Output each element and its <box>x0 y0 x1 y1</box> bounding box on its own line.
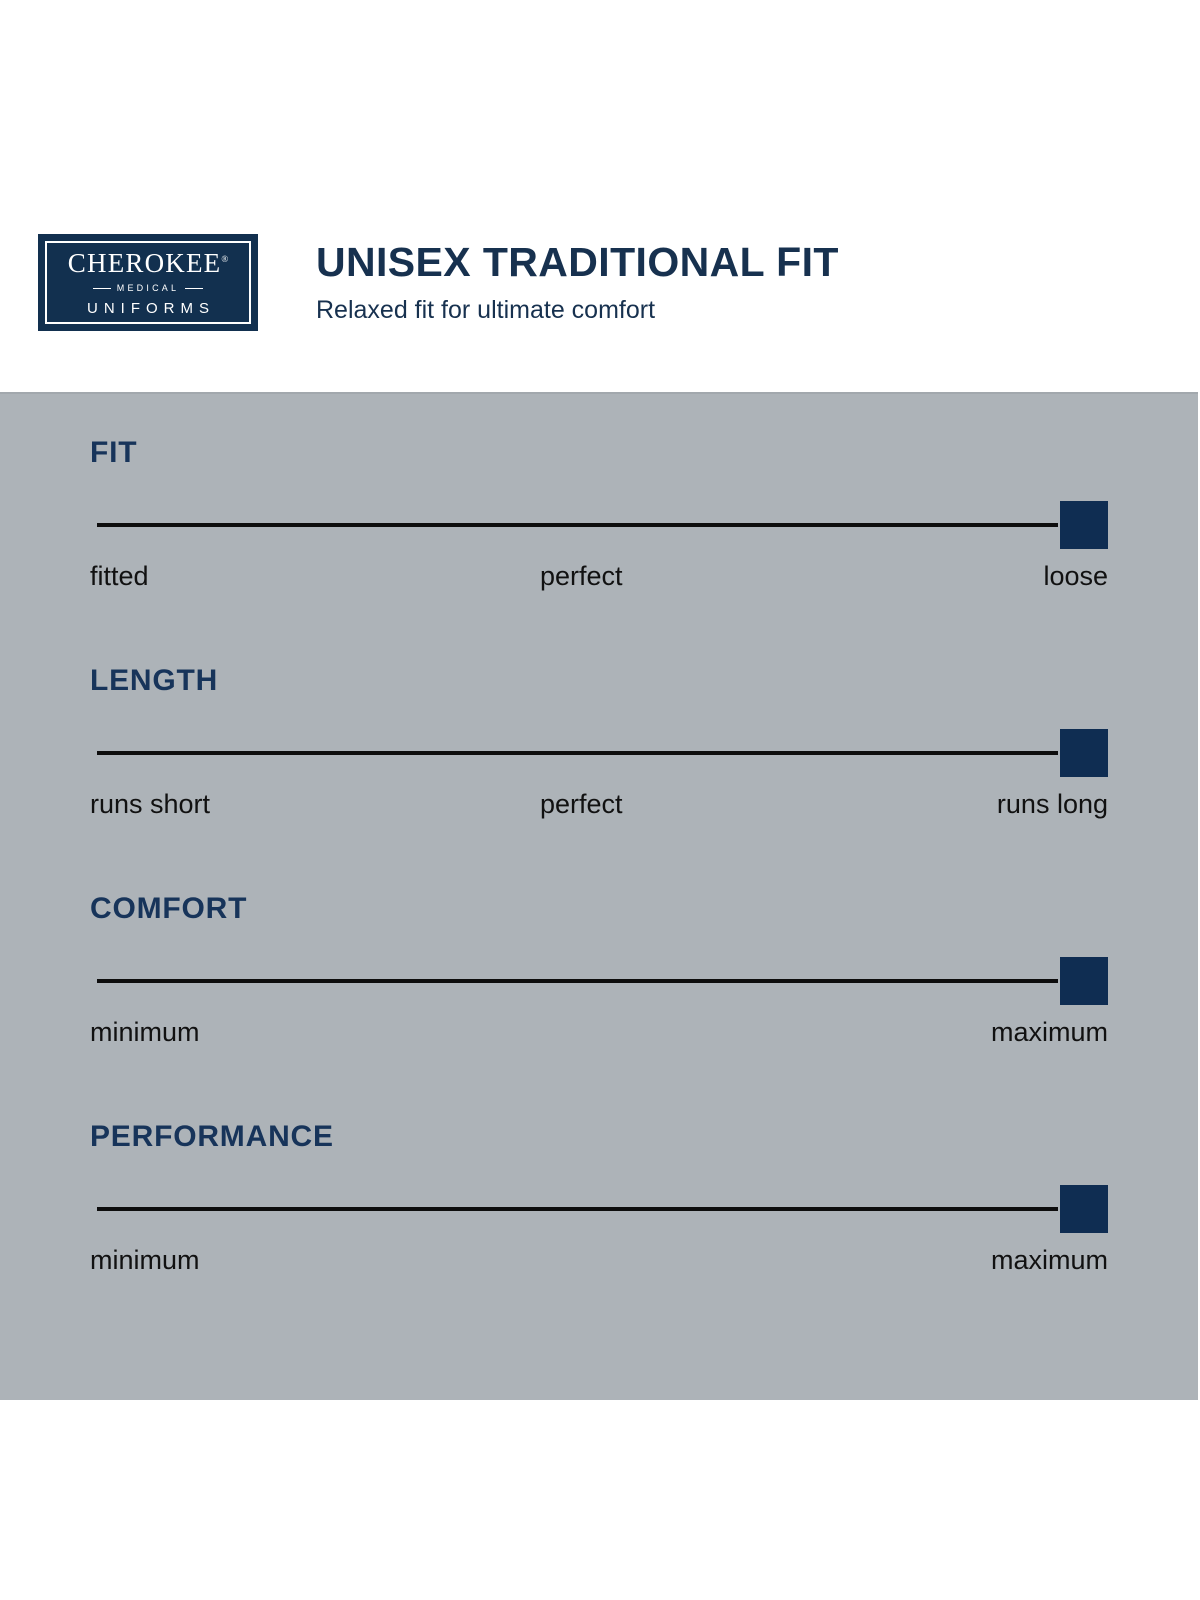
slider-labels-comfort: minimum maximum <box>90 1015 1108 1051</box>
scale-label-center-fit: perfect <box>540 559 623 594</box>
slider-labels-performance: minimum maximum <box>90 1243 1108 1279</box>
logo-medical-label: MEDICAL <box>117 284 179 293</box>
slider-labels-fit: fitted perfect loose <box>90 559 1108 595</box>
scale-label-left-length: runs short <box>90 787 210 822</box>
slider-comfort[interactable] <box>90 957 1108 1005</box>
cherokee-logo: CHEROKEE® MEDICAL UNIFORMS <box>38 234 258 331</box>
logo-medical-row: MEDICAL <box>93 284 203 293</box>
scale-title-length: LENGTH <box>90 662 1108 696</box>
scale-title-fit: FIT <box>90 434 1108 468</box>
logo-uniforms-label: UNIFORMS <box>81 301 215 316</box>
fit-scales-panel: FIT fitted perfect loose LENGTH runs sho… <box>0 392 1198 1400</box>
header-text-block: UNISEX TRADITIONAL FIT Relaxed fit for u… <box>316 240 1116 325</box>
page-title: UNISEX TRADITIONAL FIT <box>316 240 1116 285</box>
slider-track-performance[interactable] <box>97 1207 1058 1211</box>
scale-label-right-comfort: maximum <box>991 1015 1108 1050</box>
slider-marker-fit[interactable] <box>1060 501 1108 549</box>
scale-title-comfort: COMFORT <box>90 890 1108 924</box>
slider-marker-performance[interactable] <box>1060 1185 1108 1233</box>
slider-length[interactable] <box>90 729 1108 777</box>
scale-label-right-length: runs long <box>997 787 1108 822</box>
scale-label-center-length: perfect <box>540 787 623 822</box>
slider-marker-length[interactable] <box>1060 729 1108 777</box>
slider-track-fit[interactable] <box>97 523 1058 527</box>
page-header: CHEROKEE® MEDICAL UNIFORMS UNISEX TRADIT… <box>0 0 1200 392</box>
scale-label-left-fit: fitted <box>90 559 149 594</box>
scale-title-performance: PERFORMANCE <box>90 1118 1108 1152</box>
logo-inner-border: CHEROKEE® MEDICAL UNIFORMS <box>45 241 251 324</box>
fit-scales-list: FIT fitted perfect loose LENGTH runs sho… <box>90 434 1108 1346</box>
page-subtitle: Relaxed fit for ultimate comfort <box>316 295 1116 325</box>
registered-trademark-icon: ® <box>221 254 228 264</box>
slider-fit[interactable] <box>90 501 1108 549</box>
logo-rule-left-icon <box>93 288 111 289</box>
scale-label-left-comfort: minimum <box>90 1015 200 1050</box>
fit-scale-length: LENGTH runs short perfect runs long <box>90 662 1108 890</box>
slider-marker-comfort[interactable] <box>1060 957 1108 1005</box>
scale-label-right-performance: maximum <box>991 1243 1108 1278</box>
fit-scale-performance: PERFORMANCE minimum maximum <box>90 1118 1108 1346</box>
fit-scale-comfort: COMFORT minimum maximum <box>90 890 1108 1118</box>
logo-brand-text: CHEROKEE® <box>68 250 228 277</box>
slider-track-comfort[interactable] <box>97 979 1058 983</box>
slider-labels-length: runs short perfect runs long <box>90 787 1108 823</box>
slider-track-length[interactable] <box>97 751 1058 755</box>
scale-label-left-performance: minimum <box>90 1243 200 1278</box>
fit-scale-fit: FIT fitted perfect loose <box>90 434 1108 662</box>
logo-brand-label: CHEROKEE <box>68 248 222 278</box>
scale-label-right-fit: loose <box>1043 559 1108 594</box>
slider-performance[interactable] <box>90 1185 1108 1233</box>
logo-rule-right-icon <box>185 288 203 289</box>
